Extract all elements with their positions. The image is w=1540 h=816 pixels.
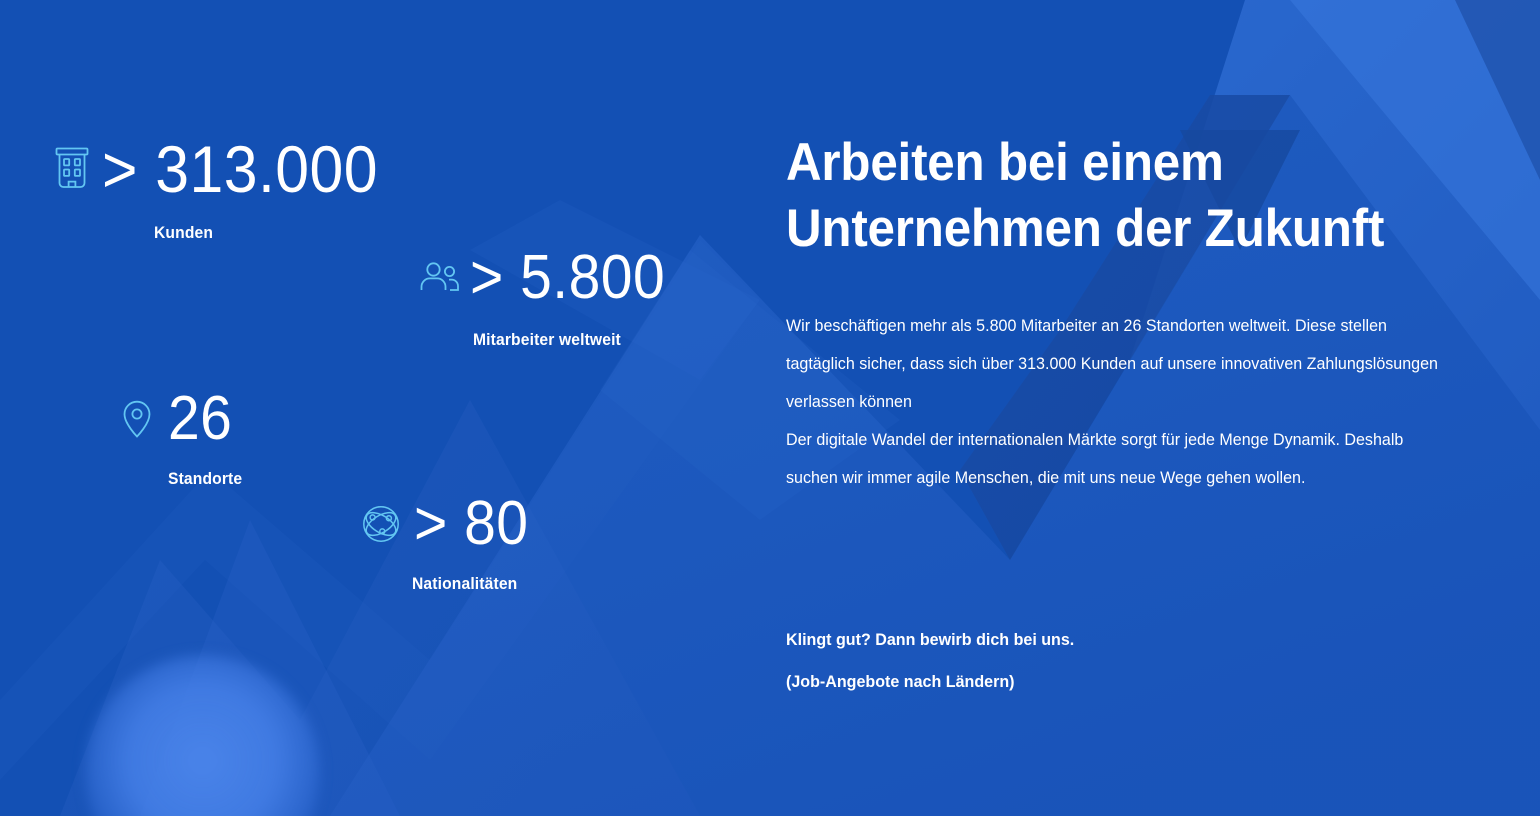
stat-kunden-number: 313.000	[155, 132, 378, 206]
cta-block: Klingt gut? Dann bewirb dich bei uns. (J…	[786, 619, 1486, 703]
location-pin-icon	[120, 398, 154, 440]
page-title: Arbeiten bei einem Unternehmen der Zukun…	[786, 130, 1437, 261]
headline-line-2: Unternehmen der Zukunft	[786, 196, 1437, 262]
body-paragraph-2: Der digitale Wandel der internationalen …	[786, 421, 1459, 497]
building-icon	[52, 146, 92, 192]
stat-nationalitaeten-prefix: >	[414, 489, 448, 558]
stat-mitarbeiter-label: Mitarbeiter weltweit	[473, 331, 665, 348]
text-panel: Arbeiten bei einem Unternehmen der Zukun…	[786, 0, 1486, 816]
cta-line-1: Klingt gut? Dann bewirb dich bei uns.	[786, 619, 1448, 661]
stat-mitarbeiter-prefix: >	[470, 243, 504, 312]
stats-group: > 313.000 Kunden > 5.800	[0, 0, 770, 816]
stat-standorte-value: 26	[168, 388, 232, 450]
stat-kunden: > 313.000 Kunden	[52, 136, 402, 241]
stat-kunden-value: > 313.000	[102, 136, 378, 202]
stat-kunden-label: Kunden	[154, 224, 382, 241]
stat-nationalitaeten-label: Nationalitäten	[412, 575, 528, 592]
people-icon	[418, 260, 460, 296]
stat-kunden-prefix: >	[102, 132, 138, 206]
stat-mitarbeiter-value: > 5.800	[470, 247, 665, 309]
stat-nationalitaeten: > 80 Nationalitäten	[360, 493, 538, 592]
body-paragraph-1: Wir beschäftigen mehr als 5.800 Mitarbei…	[786, 307, 1459, 421]
stat-nationalitaeten-value: > 80	[414, 493, 528, 555]
cta-line-2[interactable]: (Job-Angebote nach Ländern)	[786, 661, 1448, 703]
stat-standorte-label: Standorte	[168, 470, 242, 487]
stat-mitarbeiter-number: 5.800	[520, 243, 665, 312]
stat-mitarbeiter: > 5.800 Mitarbeiter weltweit	[418, 247, 682, 348]
stat-standorte: 26 Standorte	[120, 388, 249, 487]
globe-network-icon	[360, 503, 402, 545]
stat-standorte-number: 26	[168, 384, 232, 453]
body-copy: Wir beschäftigen mehr als 5.800 Mitarbei…	[786, 307, 1498, 497]
stat-nationalitaeten-number: 80	[464, 489, 528, 558]
headline-line-1: Arbeiten bei einem	[786, 130, 1437, 196]
hero-section: > 313.000 Kunden > 5.800	[0, 0, 1540, 816]
